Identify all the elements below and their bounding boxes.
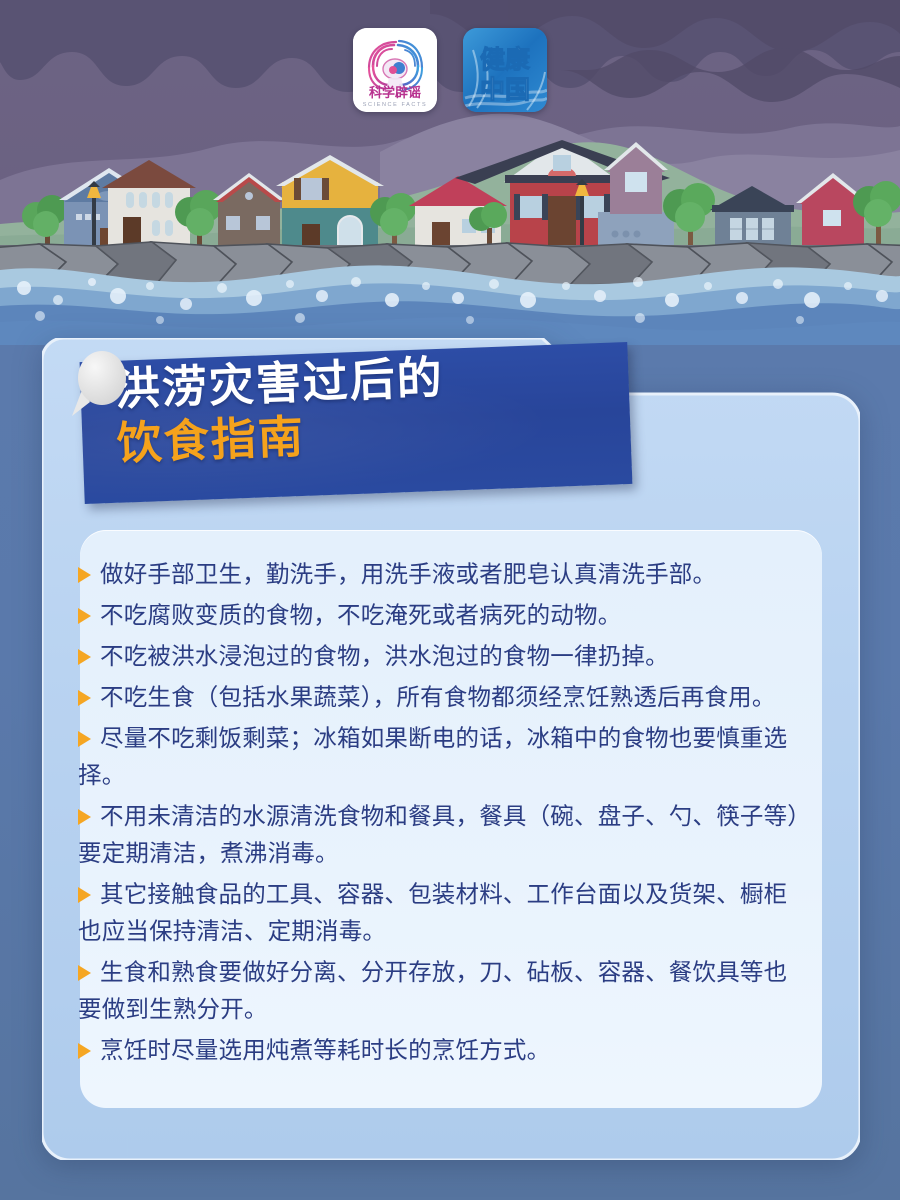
healthy-china-line1: 健康 — [480, 45, 531, 74]
triangle-bullet-icon — [78, 731, 91, 747]
list-item: 不吃生食（包括水果蔬菜），所有食物都须经烹饪熟透后再食用。 — [78, 679, 806, 716]
list-item: 不吃被洪水浸泡过的食物，洪水泡过的食物一律扔掉。 — [78, 638, 806, 675]
title-text-group: 洪涝灾害过后的 饮食指南 — [114, 354, 447, 467]
healthy-china-line2: 中国 — [480, 76, 530, 104]
logo-row: 科学辟谣 SCIENCE FACTS — [0, 28, 900, 112]
title-banner: 洪涝灾害过后的 饮食指南 — [42, 338, 622, 516]
triangle-bullet-icon — [78, 649, 91, 665]
list-item-text: 不吃被洪水浸泡过的食物，洪水泡过的食物一律扔掉。 — [100, 643, 669, 669]
science-facts-logo: 科学辟谣 SCIENCE FACTS — [353, 28, 437, 112]
triangle-bullet-icon — [78, 567, 91, 583]
science-facts-en-text: SCIENCE FACTS — [363, 102, 428, 108]
list-item: 烹饪时尽量选用炖煮等耗时长的烹饪方式。 — [78, 1032, 806, 1069]
list-item: 生食和熟食要做好分离、分开存放，刀、砧板、容器、餐饮具等也要做到生熟分开。 — [78, 954, 806, 1028]
title-main: 洪涝灾害过后的 — [114, 354, 445, 414]
list-item: 其它接触食品的工具、容器、包装材料、工作台面以及货架、橱柜也应当保持清洁、定期消… — [78, 876, 806, 950]
triangle-bullet-icon — [78, 809, 91, 825]
list-item-text: 不吃腐败变质的食物，不吃淹死或者病死的动物。 — [100, 602, 621, 628]
list-item: 做好手部卫生，勤洗手，用洗手液或者肥皂认真清洗手部。 — [78, 556, 806, 593]
triangle-bullet-icon — [78, 690, 91, 706]
triangle-bullet-icon — [78, 1043, 91, 1059]
list-item-text: 烹饪时尽量选用炖煮等耗时长的烹饪方式。 — [100, 1037, 550, 1063]
poster-root: 科学辟谣 SCIENCE FACTS — [0, 0, 900, 1200]
list-item-text: 不吃生食（包括水果蔬菜），所有食物都须经烹饪熟透后再食用。 — [100, 684, 776, 710]
list-item-text: 生食和熟食要做好分离、分开存放，刀、砧板、容器、餐饮具等也要做到生熟分开。 — [78, 959, 787, 1022]
triangle-bullet-icon — [78, 887, 91, 903]
healthy-china-logo: 健康 中国 — [463, 28, 547, 112]
list-item: 不吃腐败变质的食物，不吃淹死或者病死的动物。 — [78, 597, 806, 634]
guideline-list: 做好手部卫生，勤洗手，用洗手液或者肥皂认真清洗手部。 不吃腐败变质的食物，不吃淹… — [78, 556, 806, 1073]
list-item-text: 不用未清洁的水源清洗食物和餐具，餐具（碗、盘子、勺、筷子等）要定期清洁，煮沸消毒… — [78, 803, 799, 866]
list-item-text: 尽量不吃剩饭剩菜；冰箱如果断电的话，冰箱中的食物也要慎重选择。 — [78, 725, 787, 788]
list-item-text: 其它接触食品的工具、容器、包装材料、工作台面以及货架、橱柜也应当保持清洁、定期消… — [78, 881, 787, 944]
list-item: 不用未清洁的水源清洗食物和餐具，餐具（碗、盘子、勺、筷子等）要定期清洁，煮沸消毒… — [78, 798, 806, 872]
triangle-bullet-icon — [78, 965, 91, 981]
triangle-bullet-icon — [78, 608, 91, 624]
list-item-text: 做好手部卫生，勤洗手，用洗手液或者肥皂认真清洗手部。 — [100, 561, 716, 587]
science-facts-cn-text: 科学辟谣 — [369, 85, 421, 100]
list-item: 尽量不吃剩饭剩菜；冰箱如果断电的话，冰箱中的食物也要慎重选择。 — [78, 720, 806, 794]
pin-icon — [64, 344, 140, 434]
